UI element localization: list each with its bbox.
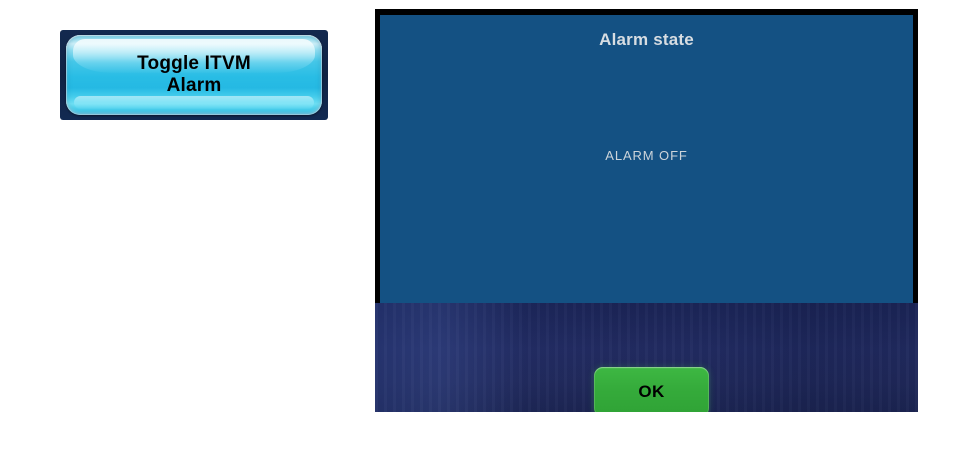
alarm-state-dialog: Alarm state ALARM OFF OK: [375, 9, 918, 412]
toggle-button-label: Toggle ITVM Alarm: [66, 35, 322, 115]
alarm-status-text: ALARM OFF: [380, 148, 913, 163]
toggle-button-frame: Toggle ITVM Alarm: [60, 30, 328, 120]
dialog-footer-panel: OK: [375, 303, 918, 412]
dialog-screen-area: Alarm state ALARM OFF: [380, 15, 913, 303]
ok-button[interactable]: OK: [594, 367, 709, 412]
dialog-title: Alarm state: [380, 30, 913, 50]
toggle-itvm-alarm-button[interactable]: Toggle ITVM Alarm: [66, 35, 322, 115]
